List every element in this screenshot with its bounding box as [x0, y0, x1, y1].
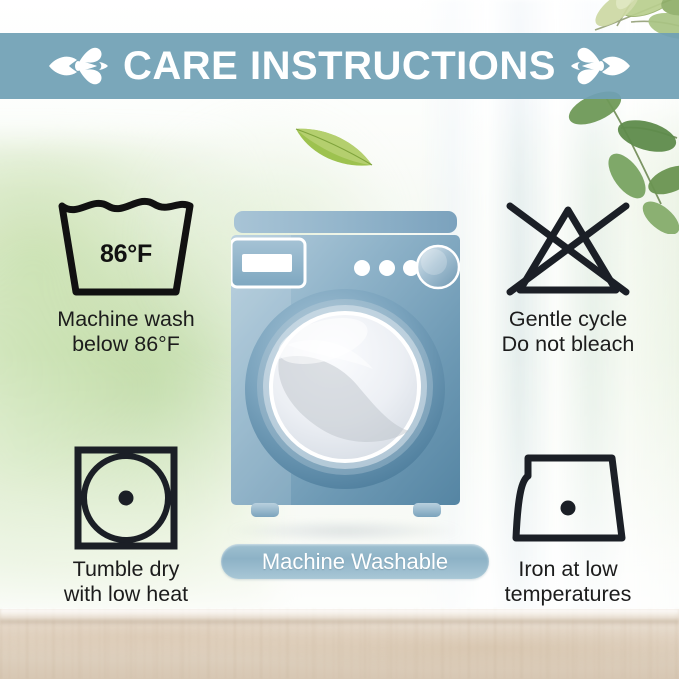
care-symbol-caption: Machine wash below 86°F — [18, 307, 234, 357]
wash-tub-icon: 86°F — [18, 196, 234, 300]
care-symbol-do-not-bleach: Gentle cycle Do not bleach — [460, 196, 676, 357]
triangle-crossed-bleach-icon — [460, 196, 676, 300]
page-title: CARE INSTRUCTIONS — [123, 46, 556, 86]
badge-label: Machine Washable — [262, 551, 448, 573]
wash-temperature-label: 86°F — [50, 240, 202, 269]
care-symbol-machine-wash: 86°F Machine wash below 86°F — [18, 196, 234, 357]
wood-table-surface — [0, 609, 679, 679]
header-banner: CARE INSTRUCTIONS — [0, 33, 679, 99]
care-symbol-caption: Iron at low temperatures — [460, 557, 676, 607]
fleur-de-lis-icon-left — [47, 44, 109, 88]
washing-machine-illustration — [231, 209, 460, 527]
wood-edge-shadow — [0, 621, 679, 625]
iron-icon — [460, 446, 676, 550]
care-symbol-iron-low: Iron at low temperatures — [460, 446, 676, 607]
care-symbol-caption: Gentle cycle Do not bleach — [460, 307, 676, 357]
care-symbol-caption: Tumble dry with low heat — [18, 557, 234, 607]
machine-washable-badge: Machine Washable — [221, 544, 489, 579]
care-instructions-graphic: CARE INSTRUCTIONS — [0, 0, 679, 679]
tumble-dry-square-icon — [18, 446, 234, 550]
fleur-de-lis-icon-right — [570, 44, 632, 88]
floating-leaf-icon — [292, 119, 376, 171]
care-symbol-tumble-dry: Tumble dry with low heat — [18, 446, 234, 607]
